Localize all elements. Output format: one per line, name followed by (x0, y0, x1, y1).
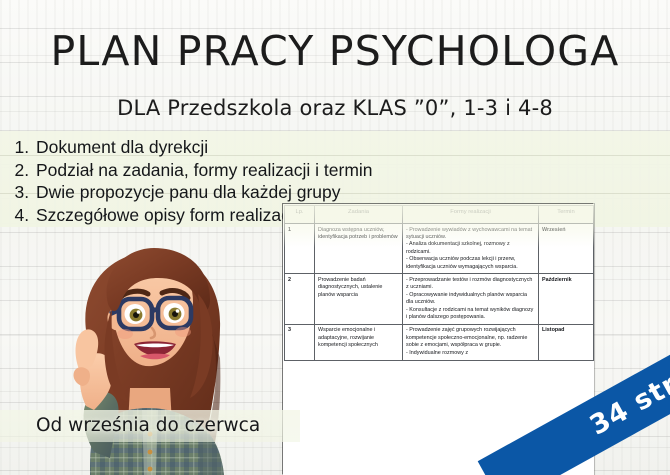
caption-text: Od września do czerwca (36, 415, 260, 436)
formy-line: - Przeprowadzanie testów i rozmów diagno… (406, 277, 535, 292)
cell-formy: - Prowadzenie zajęć grupowych rozwijając… (403, 324, 539, 360)
formy-line: - Konsultacje z rodzicami na temat wynik… (406, 307, 535, 322)
list-item: Podział na zadania, formy realizacji i t… (34, 159, 373, 182)
table-row: 2 Prowadzenie badań diagnostycznych, ust… (285, 274, 594, 324)
table-row: 1 Diagnoza wstępna uczniów, identyfikacj… (285, 224, 594, 274)
table-header-row: Lp. Zadania Formy realizacji Termin (285, 206, 594, 224)
column-header-formy: Formy realizacji (403, 206, 539, 224)
cell-termin: Listopad (539, 324, 594, 360)
list-item: Dokument dla dyrekcji (34, 136, 373, 159)
formy-line: - Indywidualne rozmowy z (406, 350, 535, 357)
column-header-termin: Termin (539, 206, 594, 224)
cell-termin: Październik (539, 274, 594, 324)
cell-zadania: Diagnoza wstępna uczniów, identyfikacja … (315, 224, 403, 274)
formy-line: - Prowadzenie wywiadów z wychowawcami na… (406, 227, 535, 242)
column-header-zadania: Zadania (315, 206, 403, 224)
cell-zadania: Prowadzenie badań diagnostycznych, ustal… (315, 274, 403, 324)
formy-line: - Opracowywanie indywidualnych planów ws… (406, 292, 535, 307)
page-title: PLAN PRACY PSYCHOLOGA (0, 27, 670, 75)
list-item: Dwie propozycje panu dla każdej grupy (34, 181, 373, 204)
formy-line: - Prowadzenie zajęć grupowych rozwijając… (406, 327, 535, 349)
cell-formy: - Przeprowadzanie testów i rozmów diagno… (403, 274, 539, 324)
page-subtitle: DLA Przedszkola oraz KLAS ”0”, 1-3 i 4-8 (0, 96, 670, 120)
cell-lp: 3 (285, 324, 315, 360)
plan-table: Lp. Zadania Formy realizacji Termin 1 Di… (284, 205, 594, 361)
cell-zadania: Wsparcie emocjonalne i adaptacyjne, rozw… (315, 324, 403, 360)
cell-lp: 1 (285, 224, 315, 274)
cell-termin: Wrzesień (539, 224, 594, 274)
cell-formy: - Prowadzenie wywiadów z wychowawcami na… (403, 224, 539, 274)
poster-canvas: PLAN PRACY PSYCHOLOGA DLA Przedszkola or… (0, 0, 670, 475)
formy-line: - Analiza dokumentacji szkolnej, rozmowy… (406, 241, 535, 256)
column-header-lp: Lp. (285, 206, 315, 224)
table-row: 3 Wsparcie emocjonalne i adaptacyjne, ro… (285, 324, 594, 360)
formy-line: - Obserwacja uczniów podczas lekcji i pr… (406, 256, 535, 271)
cell-lp: 2 (285, 274, 315, 324)
